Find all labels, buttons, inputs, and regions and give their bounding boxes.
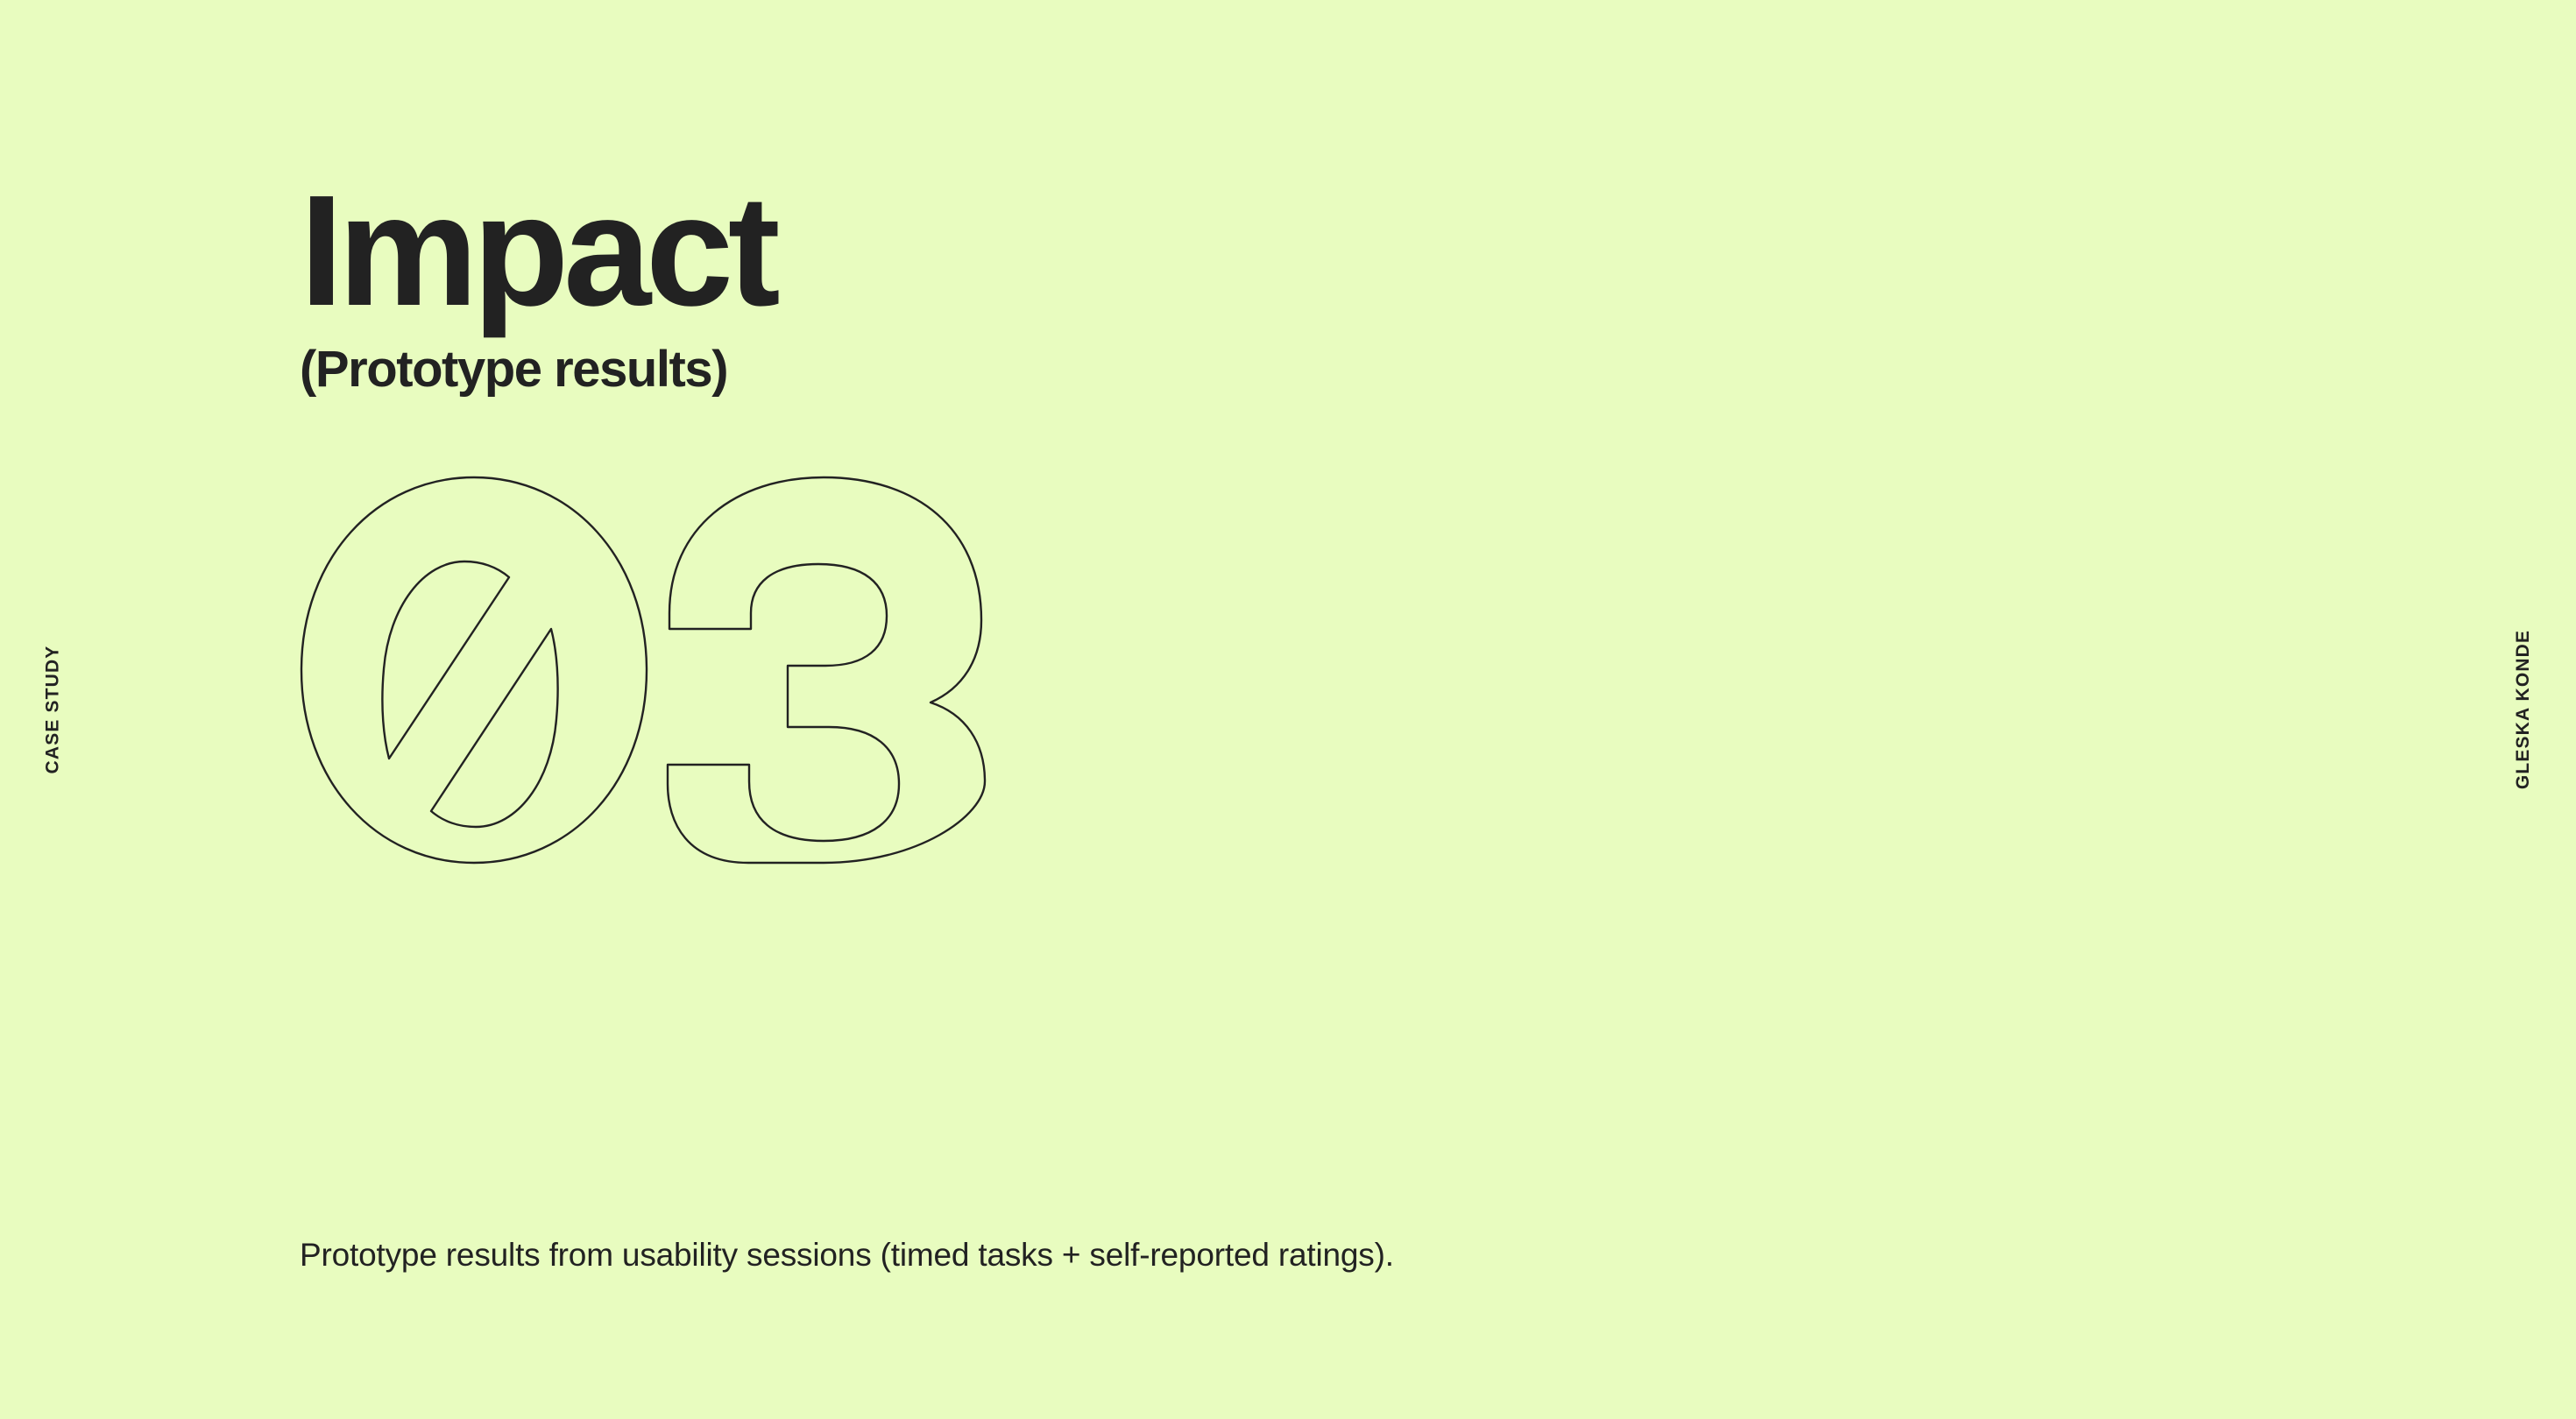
slide-caption: Prototype results from usability session…	[300, 1233, 1394, 1277]
left-rail: CASE STUDY	[0, 0, 105, 1419]
right-rail: GLESKA KONDE	[2471, 0, 2576, 1419]
case-study-label: CASE STUDY	[42, 646, 63, 774]
three-glyph-outline	[668, 477, 985, 863]
title-block: Impact (Prototype results)	[300, 184, 775, 395]
brand-label: GLESKA KONDE	[2513, 630, 2534, 789]
zero-outer-outline	[301, 477, 647, 863]
zero-counter-upper	[382, 561, 509, 759]
page-subtitle: (Prototype results)	[300, 344, 775, 395]
section-number-graphic	[293, 473, 994, 867]
section-number-03	[293, 473, 994, 867]
slide-content: Impact (Prototype results) Prototype res…	[300, 0, 2315, 1419]
zero-counter-lower	[431, 629, 558, 827]
page-title: Impact	[300, 184, 775, 320]
